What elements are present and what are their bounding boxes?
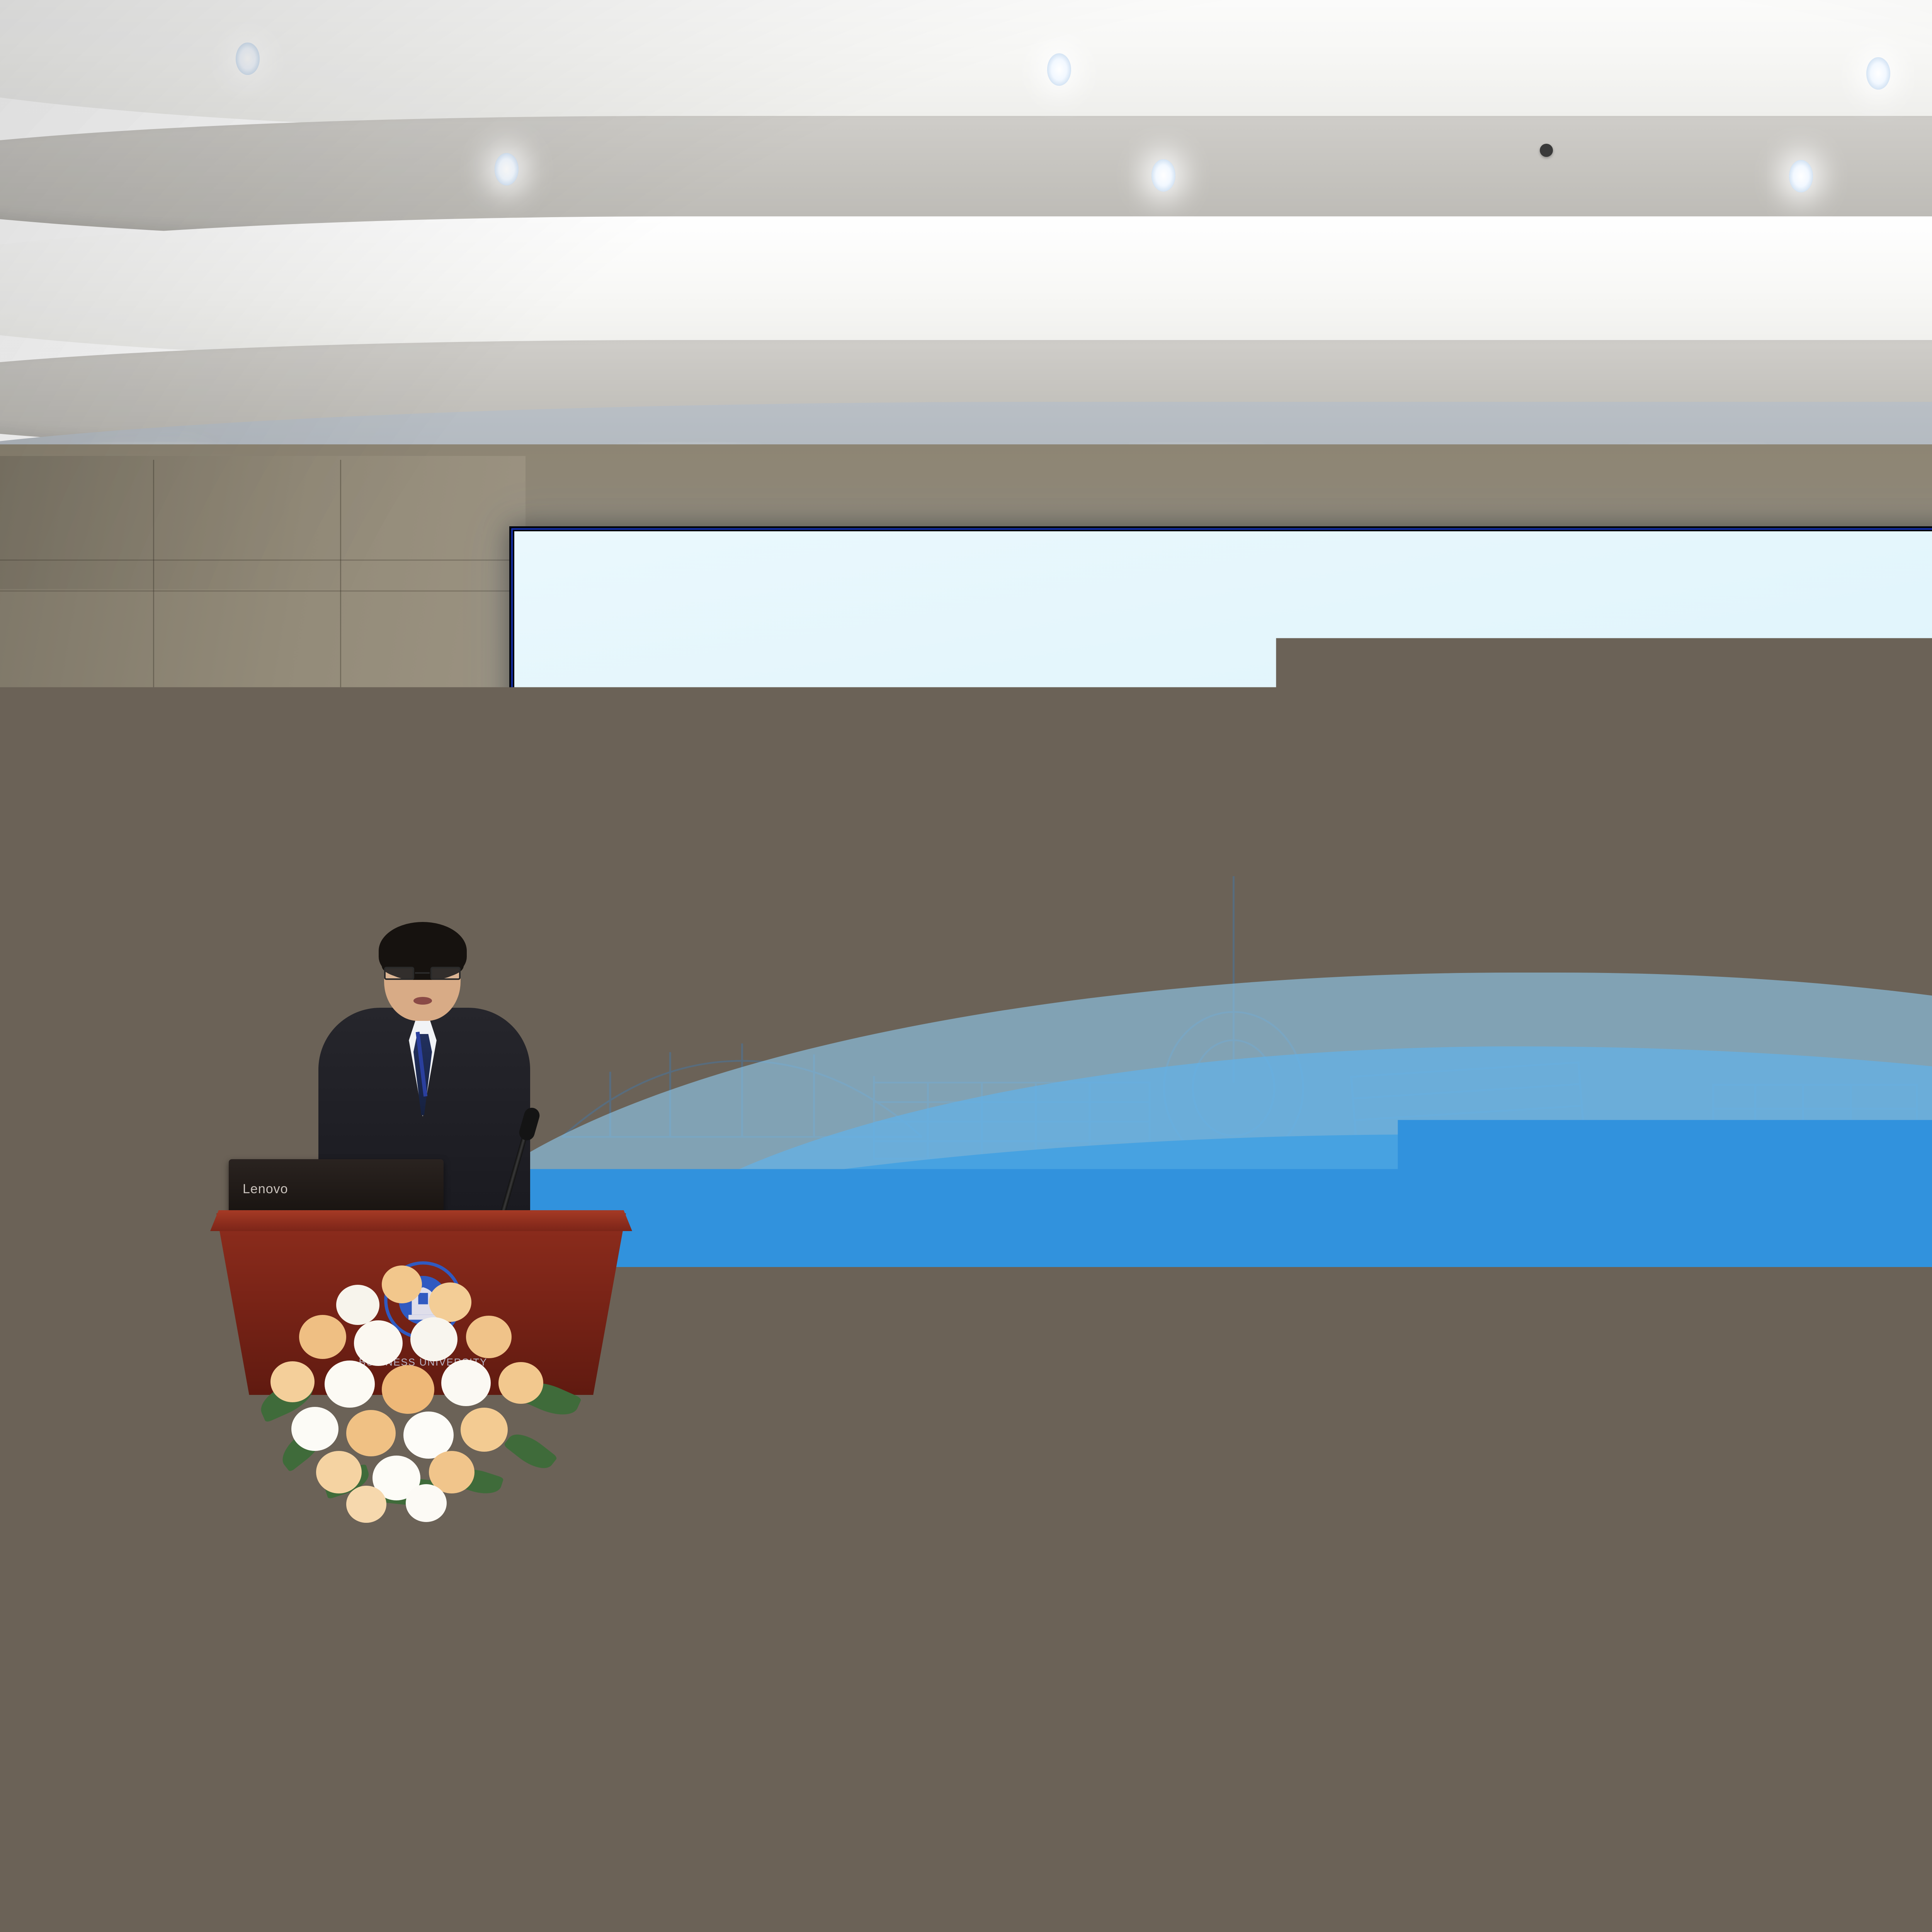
wall-seam (0, 590, 514, 592)
audience-head (19, 1781, 166, 1932)
ceiling-downlight (1866, 57, 1890, 90)
audience-member (128, 1399, 243, 1526)
ceiling (0, 0, 1932, 506)
audience-head (1272, 1379, 1344, 1462)
audience-head (1484, 1488, 1572, 1590)
organizer-line: 国际教育学院 (1192, 997, 1755, 1020)
ceiling-speaker-icon (1540, 144, 1553, 157)
presenter-mouth (413, 997, 432, 1005)
logo-divider-rule (1526, 612, 1687, 613)
audience-head (249, 1615, 357, 1740)
audience-head (481, 1627, 589, 1751)
logo-wuhan-business-university: WBU 武汉商学院 WUHAN BUSINESS UNIVERSITY (1260, 581, 1443, 626)
logo-label-cn: 国际教育学院 (1529, 584, 1684, 608)
organizer-line: 安联人寿保险有限公司湖北分公司 (1755, 997, 1932, 1020)
organizer-line: 湖北星巴克咖啡有限公司 (1755, 1020, 1932, 1044)
slide-subtitle-date: 2023年5月19日 (1457, 812, 1623, 837)
audience-head (24, 1631, 131, 1753)
audience-head (1193, 1623, 1303, 1749)
shield-flame-logo-icon (1475, 579, 1519, 628)
audience-head (1637, 1376, 1709, 1460)
organizer-column-supporter: 支持单位 武汉新东方国际教育&前途出国 安联人寿保险有限公司湖北分公司 湖北星巴… (1755, 929, 1932, 1043)
audience-head (1458, 1383, 1529, 1466)
slide-subtitle-place: 中国·武汉 (1324, 812, 1427, 837)
slide-title-year: 2023 (836, 688, 1005, 773)
logo-label-en: WUHAN BUSINESS UNIVERSITY (1317, 615, 1440, 623)
organizer-line: 德中教育文化交流协会 (629, 997, 1192, 1020)
audience-head (89, 1511, 173, 1608)
organizer-column-organizer: 承办单位 武汉商学院国际交流与合作处 国际教育学院 (1192, 929, 1755, 1020)
organizer-line: 武汉新东方国际教育&前途出国 (1755, 973, 1932, 997)
audience-head (748, 1391, 816, 1470)
ceiling-cove-band (0, 0, 1932, 131)
slide-title: 2023第二届中德教育合作项目研讨会 (514, 693, 1932, 769)
audience-head (872, 1488, 959, 1589)
laptop-brand-label: Lenovo (243, 1182, 288, 1197)
slide-title-main: 第二届中德教育合作项目研讨会 (1018, 687, 1932, 775)
organizer-dash (1463, 962, 1483, 964)
audience-area: 申 申 (0, 1217, 1932, 1932)
projection-screen: WBU 武汉商学院 WUHAN BUSINESS UNIVERSITY (509, 526, 1932, 1272)
presentation-slide: WBU 武汉商学院 WUHAN BUSINESS UNIVERSITY (514, 531, 1932, 1267)
organizer-line: 武汉商学院 (629, 973, 1192, 997)
audience-head (1276, 1484, 1364, 1586)
audience-head (443, 1387, 511, 1466)
audience-head (590, 1383, 658, 1464)
ceiling-downlight (1151, 159, 1175, 192)
audience-head (1930, 1604, 1932, 1733)
audience-head (276, 1499, 361, 1598)
organizer-line: 武汉商学院国际交流与合作处 (1192, 973, 1755, 997)
ceiling-downlight (236, 43, 260, 75)
audience-head (153, 1399, 218, 1475)
audience-head (714, 1619, 824, 1745)
audience-head (954, 1611, 1063, 1737)
logo-school-of-international-education: 国际教育学院 SCHOOL OF INTERNATIONAL EDUCATION (1475, 579, 1687, 628)
wbu-seal-logo-icon: WBU (1260, 581, 1306, 626)
audience-head (315, 1766, 466, 1932)
audience-head (959, 1774, 1112, 1932)
audience-member (1878, 1604, 1932, 1878)
glasses-icon (384, 967, 461, 980)
svg-text:WBU: WBU (1277, 604, 1289, 610)
audience-head (1626, 1812, 1782, 1932)
organizer-heading: 主办单位 (629, 929, 1192, 954)
audience-head (1073, 1492, 1160, 1592)
audience-head (1291, 1797, 1445, 1932)
logo-label-cn: 武汉商学院 (1314, 584, 1443, 608)
ceiling-downlight (495, 153, 519, 185)
audience-head (672, 1495, 758, 1596)
audience-member (572, 1785, 858, 1932)
organizer-heading: 承办单位 (1192, 929, 1755, 954)
audience-head (1838, 1372, 1910, 1456)
organizer-dash (901, 962, 921, 964)
wall-seam (0, 560, 514, 561)
organizer-heading: 支持单位 (1755, 929, 1932, 954)
audience-head (1434, 1607, 1545, 1735)
audience-head (1694, 1480, 1784, 1583)
audience-member (247, 1766, 533, 1932)
audience-member (889, 1774, 1182, 1932)
audience-head (639, 1785, 790, 1932)
organizer-column-host: 主办单位 武汉商学院 德中教育文化交流协会 (629, 929, 1192, 1020)
logo-divider-rule (1314, 612, 1443, 613)
audience-head (1093, 1383, 1163, 1465)
conference-hall-scene: 安全出口 EXIT (0, 0, 1932, 1932)
logo-separator (1459, 583, 1460, 624)
ceiling-downlight (1047, 53, 1071, 86)
audience-member (1893, 1843, 1932, 1932)
audience-head (473, 1503, 558, 1602)
wall-seam (153, 460, 154, 1271)
ceiling-downlight (1789, 160, 1813, 192)
audience-head (287, 1391, 354, 1468)
slide-subtitle: 中国·武汉2023年5月19日 (514, 806, 1932, 839)
logo-label-en: SCHOOL OF INTERNATIONAL EDUCATION (1526, 615, 1687, 623)
audience-member (0, 1781, 232, 1932)
audience-member (1553, 1812, 1855, 1932)
slide-logo-row: WBU 武汉商学院 WUHAN BUSINESS UNIVERSITY (514, 579, 1932, 628)
audience-head (1681, 1615, 1793, 1743)
slide-organizers: 主办单位 武汉商学院 德中教育文化交流协会 承办单位 武汉商学院国际交流与合作处… (629, 929, 1932, 1043)
audience-head (920, 1387, 989, 1468)
audience-head (1910, 1484, 1932, 1587)
audience-member (1221, 1797, 1515, 1932)
